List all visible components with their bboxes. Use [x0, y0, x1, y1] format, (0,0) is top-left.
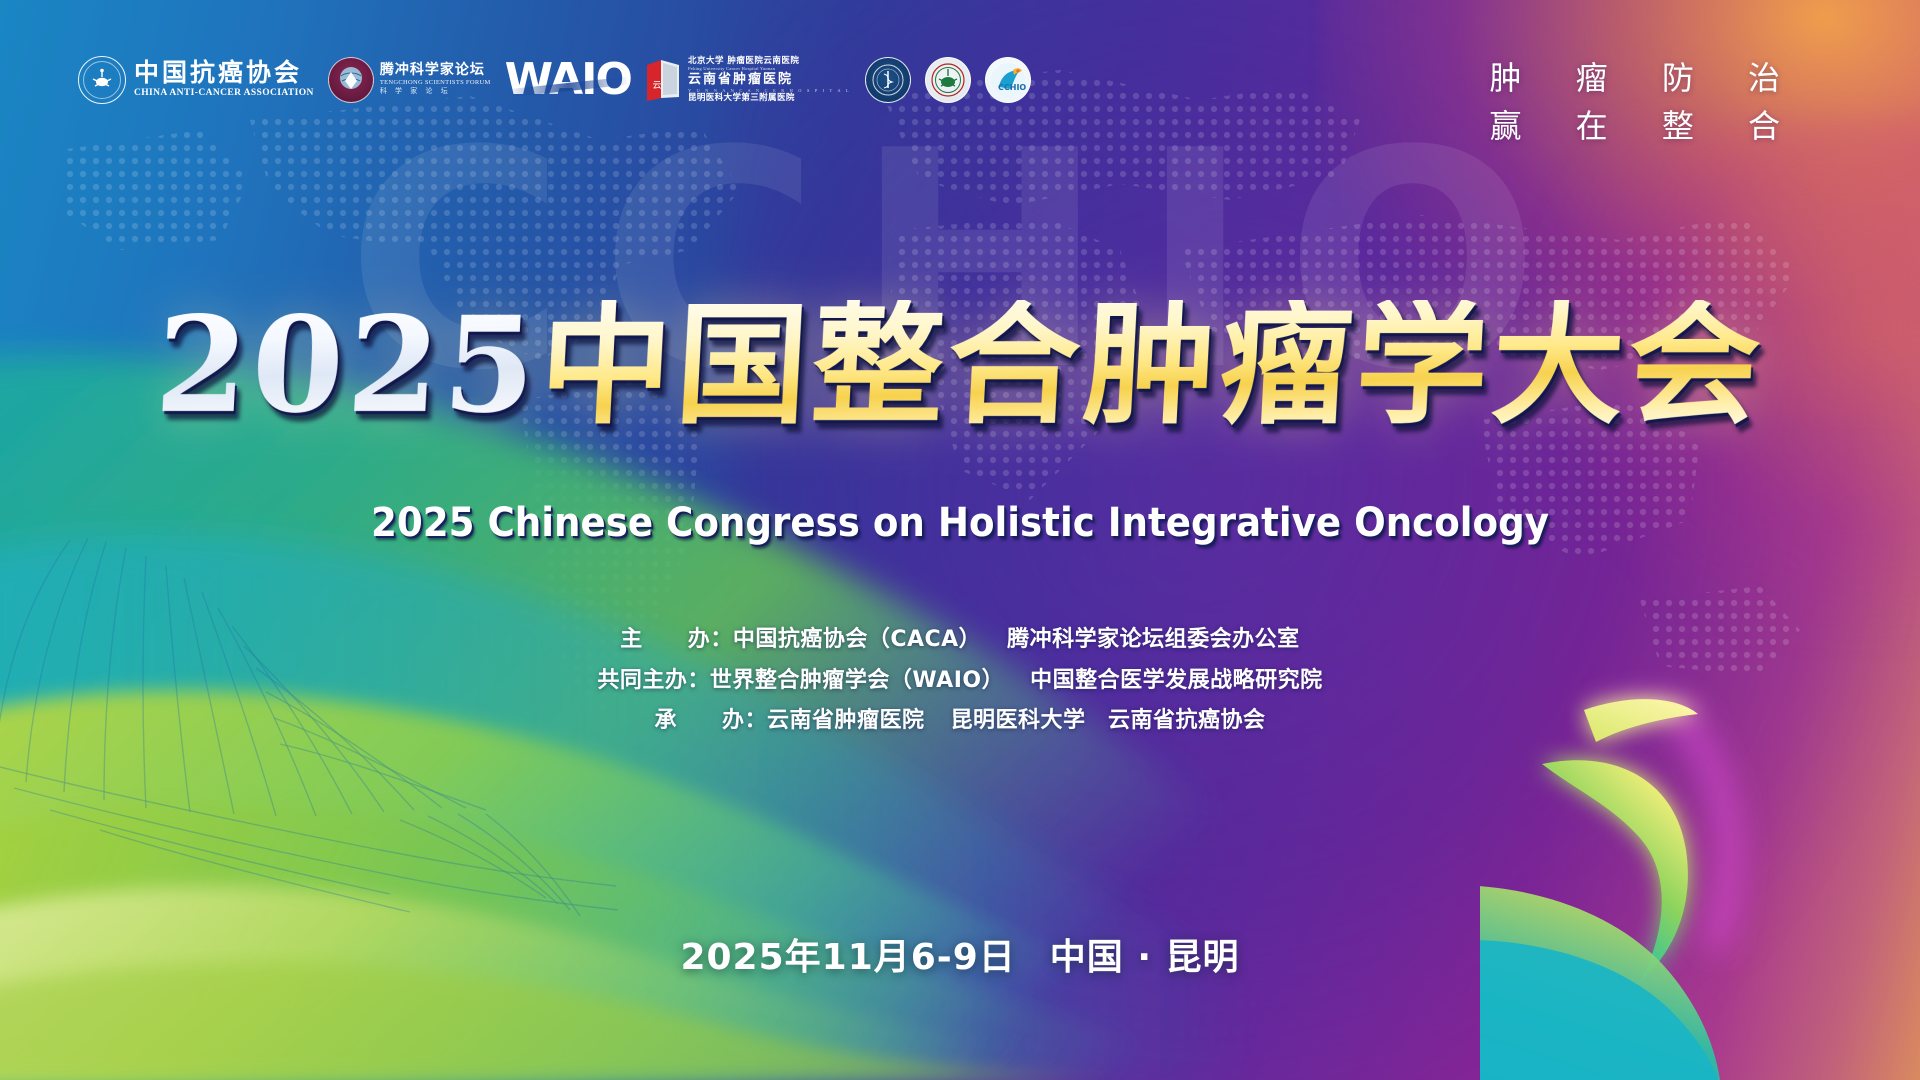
organizer-value: 云南省肿瘤医院 [767, 708, 925, 733]
slogan-block: 肿 瘤 防 治 赢 在 整 合 [1489, 54, 1802, 150]
title-block: 2025中国整合肿瘤学大会 [0, 300, 1920, 432]
svg-text:云: 云 [652, 81, 661, 91]
logo-tengchong-forum: 腾冲科学家论坛 TENGCHONG SCIENTISTS FORUM 科 学 家… [328, 49, 491, 111]
title-year: 2025 [153, 300, 543, 432]
organizer-row: 主 办：中国抗癌协会（CACA）腾冲科学家论坛组委会办公室 [0, 620, 1920, 661]
caca-label-en: CHINA ANTI-CANCER ASSOCIATION [134, 88, 314, 99]
yunnan-hospital-line4: Y U N N A N C A N C E R H O S P I T A L [688, 88, 851, 93]
peacock-graphic [1480, 660, 1900, 1080]
title-english: 2025 Chinese Congress on Holistic Integr… [67, 500, 1853, 546]
yunnan-hospital-line3: 云南省肿瘤医院 [688, 73, 851, 88]
conference-poster: CCHIO [0, 0, 1920, 1080]
yunnan-hospital-line1: 北京大学 肿瘤医院云南医院 [688, 57, 851, 67]
organizer-value: 中国抗癌协会（CACA） [733, 627, 981, 652]
conference-date: 2025年11月6-9日 [680, 937, 1015, 978]
slogan-line-1: 肿 瘤 防 治 [1489, 54, 1802, 102]
globe-diamond-icon [334, 63, 368, 97]
logo-kunming-medical-university [865, 49, 911, 111]
logo-waio: WAIO [505, 49, 631, 111]
caduceus-icon [871, 63, 905, 97]
tengchong-label-cn: 腾冲科学家论坛 [380, 63, 491, 78]
caca-emblem-icon [78, 56, 126, 104]
organizer-label: 主 办： [620, 620, 733, 661]
ynaca-emblem-icon [925, 57, 971, 103]
peacock-emblem-icon: CCHIO [989, 61, 1027, 99]
svg-text:CCHIO: CCHIO [998, 83, 1026, 92]
organizer-label: 共同主办： [597, 661, 710, 702]
title-chinese: 中国整合肿瘤学大会 [536, 300, 1767, 432]
cchio-emblem-icon: CCHIO [985, 57, 1031, 103]
crab-icon [89, 67, 115, 93]
kmu-emblem-icon [865, 57, 911, 103]
tengchong-emblem-icon [328, 57, 374, 103]
slogan-line-2: 赢 在 整 合 [1489, 102, 1802, 150]
logo-yunnan-anti-cancer-association [925, 49, 971, 111]
conference-location: 中国 · 昆明 [1050, 937, 1240, 978]
yunnan-hospital-line5: 昆明医科大学第三附属医院 [688, 94, 851, 104]
organizer-value-2: 腾冲科学家论坛组委会办公室 [1007, 627, 1300, 652]
waio-wordmark: WAIO [505, 58, 631, 102]
organizer-value-2: 昆明医科大学 云南省抗癌协会 [951, 708, 1266, 733]
logo-caca: 中国抗癌协会 CHINA ANTI-CANCER ASSOCIATION [78, 49, 314, 111]
organizer-value: 世界整合肿瘤学会（WAIO） [710, 668, 1004, 693]
tengchong-label-sub: 科 学 家 论 坛 [380, 87, 491, 97]
organizer-label: 承 办： [654, 701, 767, 742]
logo-yunnan-cancer-hospital: 云 北京大学 肿瘤医院云南医院 Peking University Cancer… [645, 49, 851, 111]
tengchong-label-en: TENGCHONG SCIENTISTS FORUM [380, 78, 491, 87]
logo-cchio-emblem: CCHIO [985, 49, 1031, 111]
open-book-icon: 云 [645, 57, 683, 103]
yunnan-hospital-line2: Peking University Cancer Hospital Yunnan [688, 66, 851, 71]
caca-label-cn: 中国抗癌协会 [134, 60, 314, 86]
sponsor-logo-bar: 中国抗癌协会 CHINA ANTI-CANCER ASSOCIATION 腾冲科… [78, 48, 1031, 112]
crab-leaf-icon [930, 62, 966, 98]
organizer-value-2: 中国整合医学发展战略研究院 [1030, 668, 1323, 693]
